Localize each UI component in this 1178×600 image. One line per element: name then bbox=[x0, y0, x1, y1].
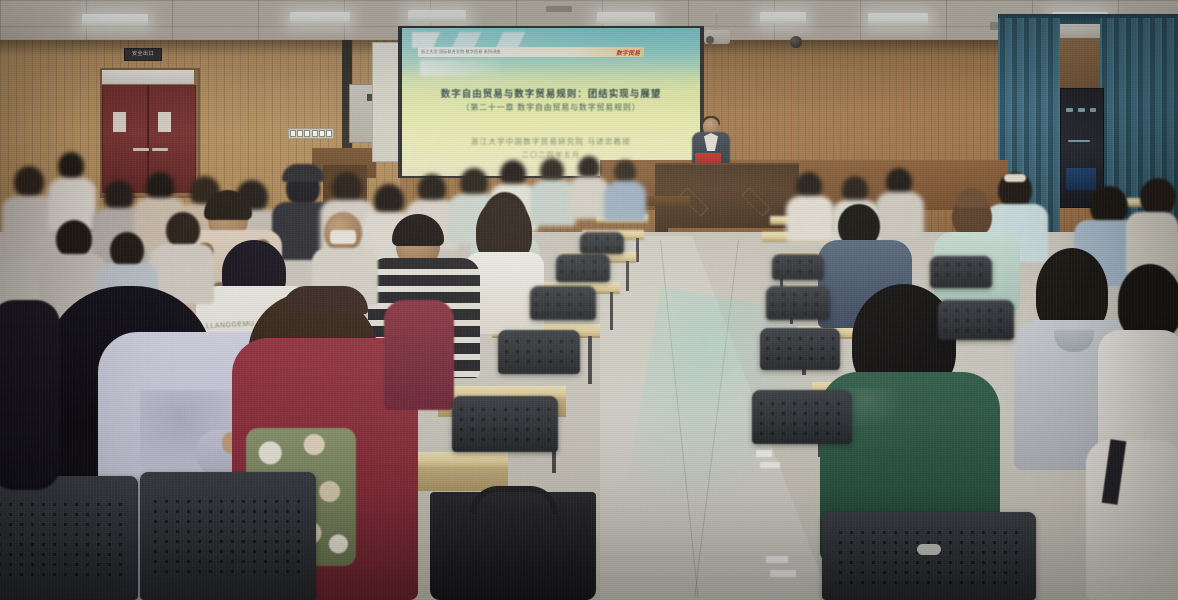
student-head bbox=[56, 220, 92, 258]
student-head bbox=[1140, 178, 1176, 216]
chair-brand-badge bbox=[917, 544, 941, 555]
chair-back[interactable] bbox=[760, 328, 840, 370]
face-mask-icon bbox=[330, 230, 356, 244]
floor-highlight bbox=[770, 570, 796, 577]
chair-slats bbox=[584, 237, 621, 251]
floor-highlight bbox=[766, 556, 788, 563]
chair-slats bbox=[760, 402, 844, 435]
chair-back[interactable] bbox=[930, 256, 992, 288]
chair-slats bbox=[839, 531, 1019, 586]
chair-back[interactable] bbox=[752, 390, 852, 444]
projector-lens bbox=[706, 36, 714, 44]
rack-display bbox=[1066, 168, 1096, 190]
chair-slats bbox=[535, 293, 590, 314]
student-hair bbox=[1118, 264, 1178, 340]
chair-back[interactable] bbox=[772, 254, 824, 280]
chair-back[interactable] bbox=[822, 512, 1036, 600]
student-head bbox=[14, 166, 44, 198]
exit-sign-label: 安全出口 bbox=[125, 50, 161, 57]
ceiling-light-panel bbox=[408, 10, 466, 22]
chair-slats bbox=[154, 500, 302, 579]
desk-leg bbox=[588, 336, 592, 384]
student-body bbox=[786, 196, 834, 242]
headband-icon bbox=[282, 286, 368, 314]
exit-sign: 安全出口 bbox=[124, 48, 162, 61]
chair-slats bbox=[766, 337, 833, 363]
chair-back[interactable] bbox=[530, 286, 596, 320]
student-head bbox=[58, 152, 84, 180]
floor-highlight bbox=[756, 450, 772, 457]
backpack-handle bbox=[470, 486, 558, 514]
student-body bbox=[384, 300, 454, 410]
chair-slats bbox=[944, 309, 1008, 334]
rack-indicator bbox=[1078, 108, 1085, 112]
chair-back[interactable] bbox=[766, 286, 830, 320]
podium-diamond-panel bbox=[741, 187, 770, 216]
chair-back[interactable] bbox=[580, 232, 624, 254]
chair-back[interactable] bbox=[556, 254, 610, 282]
chair-back[interactable] bbox=[452, 396, 558, 452]
ceiling-light-panel bbox=[597, 12, 655, 24]
student-head bbox=[166, 212, 200, 248]
student-body bbox=[0, 300, 60, 490]
chair-slats bbox=[505, 340, 574, 367]
chair-back[interactable] bbox=[140, 472, 316, 600]
desk-leg bbox=[636, 238, 639, 262]
student-head bbox=[110, 232, 144, 268]
ceiling-light-panel bbox=[290, 12, 350, 24]
student-body bbox=[604, 181, 646, 221]
chair-back[interactable] bbox=[938, 300, 1014, 340]
hair-clip-icon bbox=[1004, 174, 1026, 182]
projector-mount-arm bbox=[715, 14, 718, 31]
projection-screen: 浙江大学 国际联合学院 数字贸易 系列讲座 数字贸易 数字自由贸易与数字贸易规则… bbox=[402, 28, 700, 176]
desk-leg bbox=[626, 261, 629, 291]
ceiling-light-panel bbox=[868, 13, 928, 25]
door-transom-window bbox=[102, 70, 194, 84]
door-handle[interactable] bbox=[133, 148, 149, 151]
screen-glare bbox=[402, 28, 700, 176]
ceiling-light-panel bbox=[760, 12, 806, 24]
rack-indicator bbox=[1066, 108, 1073, 112]
dome-camera-icon bbox=[790, 36, 802, 48]
light-switch-bank[interactable] bbox=[288, 128, 334, 139]
student-body bbox=[876, 192, 924, 238]
door-handle[interactable] bbox=[152, 148, 168, 151]
rack-indicator bbox=[1090, 108, 1096, 112]
chair-slats bbox=[935, 263, 987, 283]
ceiling-vent bbox=[546, 6, 572, 12]
ceiling-light-panel bbox=[82, 14, 148, 26]
chair-back[interactable] bbox=[0, 476, 138, 600]
rack-indicator bbox=[1068, 140, 1090, 142]
chair-slats bbox=[560, 260, 605, 277]
chair-slats bbox=[0, 503, 126, 580]
chair-back[interactable] bbox=[498, 330, 580, 374]
door-glass-panel bbox=[113, 112, 126, 132]
chair-slats bbox=[771, 293, 825, 314]
chair-slats bbox=[460, 408, 549, 443]
chair-slats bbox=[776, 260, 820, 276]
baseball-cap-icon bbox=[282, 164, 324, 182]
desk-leg bbox=[610, 292, 613, 330]
student-body bbox=[1086, 440, 1178, 600]
lecture-hall-photo: 安全出口 浙江大学 国际联合学院 数字贸易 系列讲座 数字贸易 数字自由贸易与数… bbox=[0, 0, 1178, 600]
floor-highlight bbox=[760, 462, 780, 468]
door-glass-panel bbox=[158, 112, 171, 132]
